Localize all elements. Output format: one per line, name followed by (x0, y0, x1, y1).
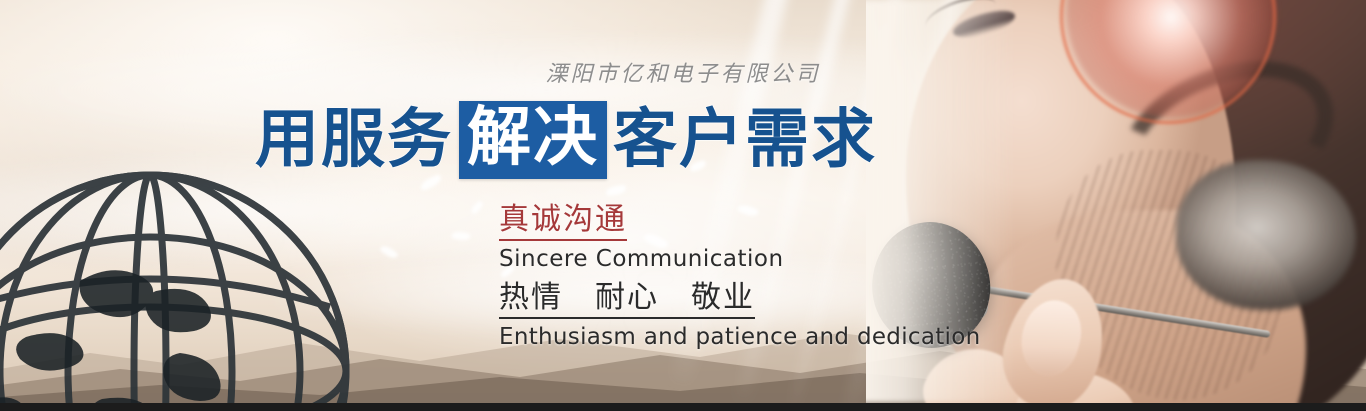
slogan-row-2: 热情 耐心 敬业 (499, 274, 981, 319)
slogan-cn-2: 热情 耐心 敬业 (499, 280, 755, 319)
bottom-dark-bar (0, 403, 1366, 411)
headline: 用服务 解决 客户需求 (255, 101, 877, 179)
promo-banner: 溧阳市亿和电子有限公司 用服务 解决 客户需求 真诚沟通 Sincere Com… (0, 0, 1366, 411)
company-name: 溧阳市亿和电子有限公司 (0, 56, 1366, 88)
headline-lead: 用服务 (255, 101, 453, 179)
slogan-row-1: 真诚沟通 (499, 202, 981, 241)
slogan-en-2: Enthusiasm and patience and dedication (499, 322, 981, 352)
slogan-block: 真诚沟通 Sincere Communication 热情 耐心 敬业 Enth… (499, 202, 981, 352)
slogan-en-1: Sincere Communication (499, 244, 981, 274)
headline-tail: 客户需求 (613, 101, 877, 179)
headline-highlight: 解决 (459, 101, 607, 179)
slogan-cn-1: 真诚沟通 (499, 202, 627, 241)
